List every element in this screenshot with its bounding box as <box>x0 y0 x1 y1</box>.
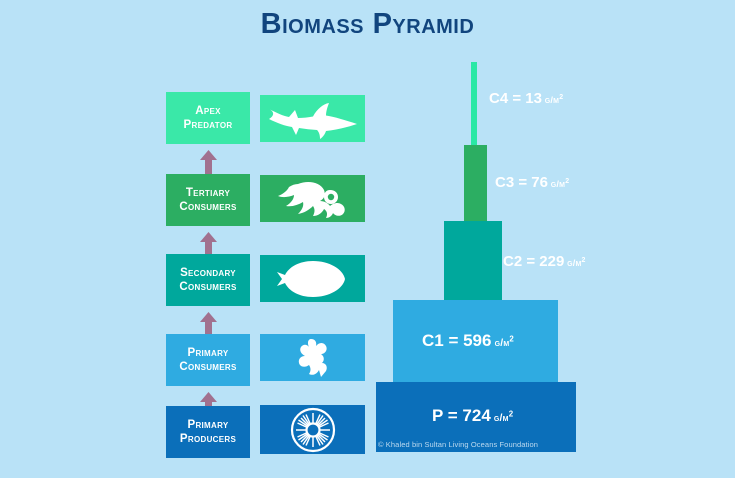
level-label-secondary-consumers: Secondary Consumers <box>166 254 250 306</box>
level-label-line2: Predator <box>184 118 233 132</box>
level-label-tertiary-consumers: Tertiary Consumers <box>166 174 250 226</box>
level-label-apex-predator: Apex Predator <box>166 92 250 144</box>
level-label-line2: Consumers <box>179 280 236 294</box>
icon-box-primary-producers <box>260 405 365 454</box>
bar-c3-tertiary-consumers <box>464 145 487 222</box>
unit-c2: g/m2 <box>564 258 585 268</box>
unit-c4: g/m2 <box>542 95 563 105</box>
page-title: Biomass Pyramid <box>0 8 735 41</box>
copyright-credit: © Khaled bin Sultan Living Oceans Founda… <box>378 440 538 449</box>
bar-value-c2: C2 = 229 g/m2 <box>503 253 586 270</box>
level-label-line1: Apex <box>184 104 233 118</box>
diatom-icon <box>290 407 336 453</box>
unit-c1: g/m2 <box>491 337 514 349</box>
arrow-tertiary-to-apex <box>200 150 217 176</box>
bar-c4-apex-predator <box>471 62 477 146</box>
bar-value-c1: C1 = 596 g/m2 <box>422 331 514 351</box>
icon-box-secondary-consumers <box>260 255 365 302</box>
level-label-line2: Consumers <box>179 360 236 374</box>
bar-c2-secondary-consumers <box>444 221 502 301</box>
unit-p: g/m2 <box>491 412 514 424</box>
level-label-line2: Consumers <box>179 200 236 214</box>
icon-box-primary-consumers <box>260 334 365 381</box>
bar-value-c3: C3 = 76 g/m2 <box>495 174 569 191</box>
icon-box-apex-predator <box>260 95 365 142</box>
level-label-primary-producers: Primary Producers <box>166 406 250 458</box>
icon-box-tertiary-consumers <box>260 175 365 222</box>
unit-c3: g/m2 <box>548 179 569 189</box>
level-label-primary-consumers: Primary Consumers <box>166 334 250 386</box>
butterflyfish-icon <box>275 259 351 299</box>
level-label-line1: Secondary <box>179 266 236 280</box>
coral-icon <box>291 337 335 379</box>
shark-icon <box>265 99 361 139</box>
level-label-line2: Producers <box>180 432 236 446</box>
level-label-line1: Primary <box>179 346 236 360</box>
level-label-line1: Tertiary <box>179 186 236 200</box>
bar-value-c4: C4 = 13 g/m2 <box>489 90 563 107</box>
level-label-line1: Primary <box>180 418 236 432</box>
bar-value-p: P = 724 g/m2 <box>432 406 513 426</box>
octopus-icon <box>268 178 358 220</box>
biomass-pyramid-infographic: Biomass Pyramid Apex Predator Tertiary C… <box>0 0 735 478</box>
